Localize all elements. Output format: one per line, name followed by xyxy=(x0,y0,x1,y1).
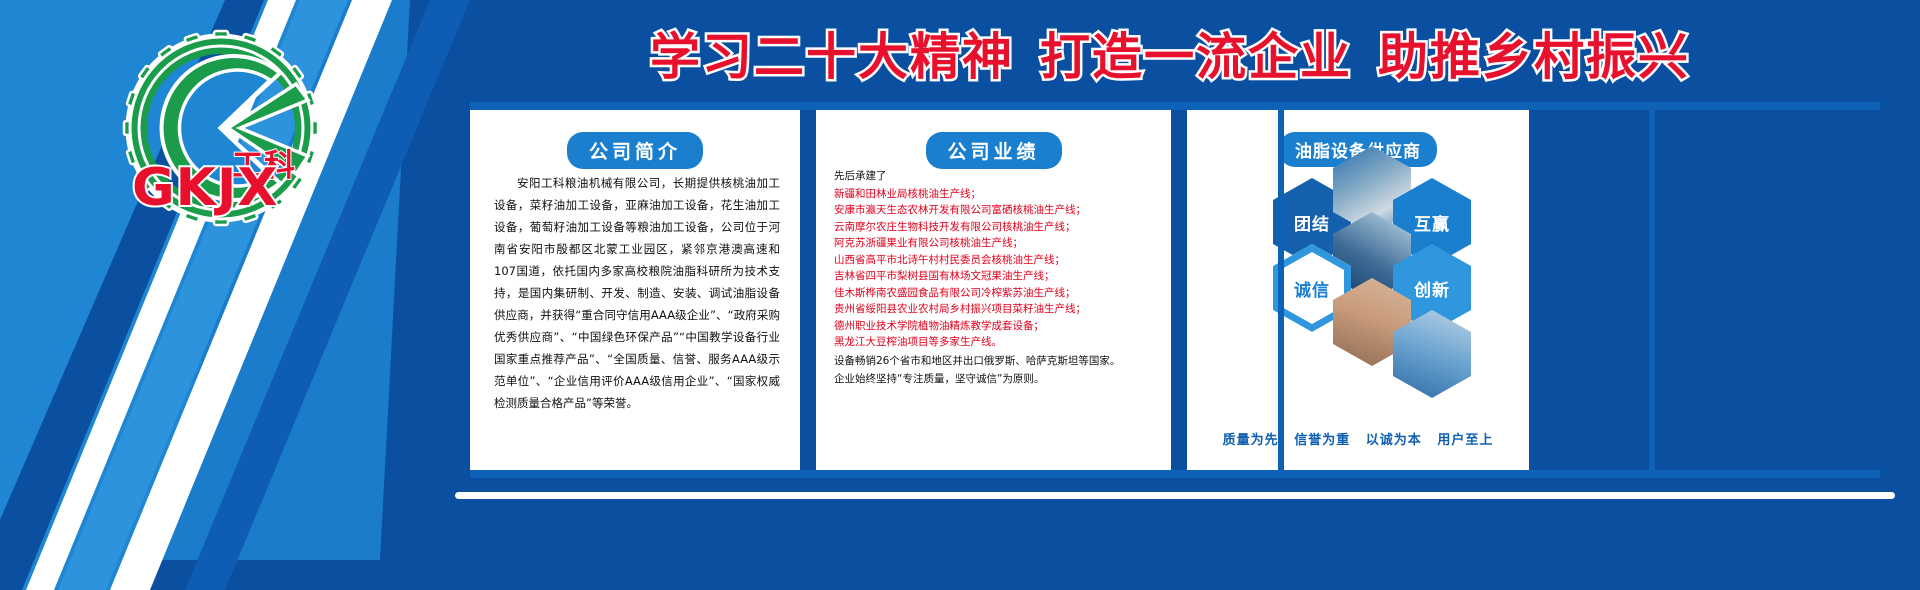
company-performance-body: 先后承建了 新疆和田林业局核桃油生产线； 安康市瀛天生态农林开发有限公司富硒核桃… xyxy=(834,168,1157,388)
panel-divider-2 xyxy=(1171,110,1187,470)
supplier-slogan: 质量为先 信誉为重 以诚为本 用户至上 xyxy=(1187,429,1529,448)
title-segment-2: 打造一流企业 xyxy=(1040,28,1352,86)
content-panels: 公司简介 安阳工科粮油机械有限公司，长期提供核桃油加工设备，菜籽油加工设备，亚麻… xyxy=(470,110,1880,470)
performance-item: 黑龙江大豆榨油项目等多家生产线。 xyxy=(834,334,1157,351)
panel-title-company-profile: 公司简介 xyxy=(567,132,703,169)
panel-title-company-performance: 公司业绩 xyxy=(925,132,1061,169)
performance-item: 新疆和田林业局核桃油生产线； xyxy=(834,186,1157,203)
title-segment-3: 助推乡村振兴 xyxy=(1378,28,1690,86)
slogan-word: 质量为先 xyxy=(1223,433,1279,448)
poster-bottom-stripe xyxy=(455,492,1895,499)
panel-separator-1 xyxy=(1278,110,1284,470)
performance-item: 德州职业技术学院植物油精炼教学成套设备； xyxy=(834,318,1157,335)
performance-item: 云南摩尔农庄生物科技开发有限公司核桃油生产线； xyxy=(834,219,1157,236)
performance-item: 阿克苏浙疆果业有限公司核桃油生产线； xyxy=(834,235,1157,252)
performance-item: 贵州省绥阳县农业农村局乡村振兴项目菜籽油生产线； xyxy=(834,301,1157,318)
panel-company-performance: 公司业绩 先后承建了 新疆和田林业局核桃油生产线； 安康市瀛天生态农林开发有限公… xyxy=(816,110,1171,470)
performance-lead: 先后承建了 xyxy=(834,168,1157,185)
panels-top-rule xyxy=(470,102,1880,110)
poster-canvas: 工科 GKJX 学习二十大精神打造一流企业助推乡村振兴 公司简介 安阳工科粮油机… xyxy=(0,0,1920,590)
panel-separator-2 xyxy=(1649,110,1655,470)
panel-divider-1 xyxy=(800,110,816,470)
logo-english-name: GKJX xyxy=(132,158,278,218)
slogan-word: 以诚为本 xyxy=(1366,433,1422,448)
panels-bottom-rule xyxy=(470,470,1880,478)
performance-item: 山西省高平市北诗午村村民委员会核桃油生产线； xyxy=(834,252,1157,269)
performance-tail-2: 企业始终坚持“专注质量，坚守诚信”为原则。 xyxy=(834,371,1157,388)
performance-item: 佳木斯桦南农盛园食品有限公司冷榨紫苏油生产线； xyxy=(834,285,1157,302)
performance-item: 安康市瀛天生态农林开发有限公司富硒核桃油生产线； xyxy=(834,202,1157,219)
panel-company-profile: 公司简介 安阳工科粮油机械有限公司，长期提供核桃油加工设备，菜籽油加工设备，亚麻… xyxy=(470,110,800,470)
slogan-word: 用户至上 xyxy=(1437,433,1493,448)
page-title: 学习二十大精神打造一流企业助推乡村振兴 xyxy=(650,17,1690,89)
performance-item: 吉林省四平市梨树县国有林场文冠果油生产线； xyxy=(834,268,1157,285)
performance-tail-1: 设备畅销26个省市和地区并出口俄罗斯、哈萨克斯坦等国家。 xyxy=(834,353,1157,370)
poster-title-bar: 学习二十大精神打造一流企业助推乡村振兴 xyxy=(430,14,1910,92)
company-profile-body: 安阳工科粮油机械有限公司，长期提供核桃油加工设备，菜籽油加工设备，亚麻油加工设备… xyxy=(494,172,780,414)
title-segment-1: 学习二十大精神 xyxy=(650,28,1014,86)
slogan-word: 信誉为重 xyxy=(1294,433,1350,448)
hexagon-cluster: 团结 互赢 创新 诚信 xyxy=(1187,168,1529,398)
panel-supplier: 油脂设备供应商 团结 互赢 创新 诚信 质量为先 信誉为重 以诚为本 xyxy=(1187,110,1529,470)
